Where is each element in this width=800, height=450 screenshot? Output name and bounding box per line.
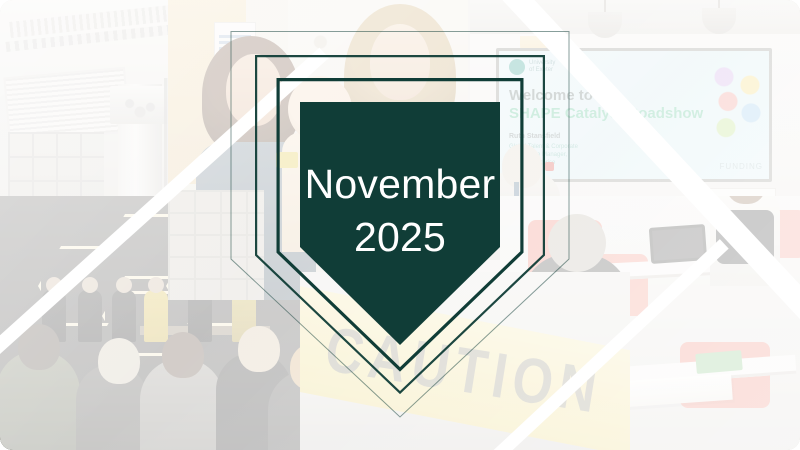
panellist <box>112 290 136 342</box>
shield-solid <box>300 102 500 345</box>
laptop <box>649 224 707 264</box>
audience-member <box>0 350 80 450</box>
panellist <box>144 290 168 342</box>
audience-member <box>76 364 148 450</box>
green-notebook <box>695 350 743 374</box>
panellist <box>78 290 102 342</box>
pendant-lamp <box>588 12 622 38</box>
ceiling <box>470 0 800 34</box>
hero-card: KTP <box>0 0 800 450</box>
column-capital <box>110 86 170 124</box>
seated-person <box>710 196 780 286</box>
slide-footer-text: FUNDING <box>720 162 763 171</box>
slide-decorative-icons <box>713 67 763 149</box>
audience-member <box>140 358 224 450</box>
